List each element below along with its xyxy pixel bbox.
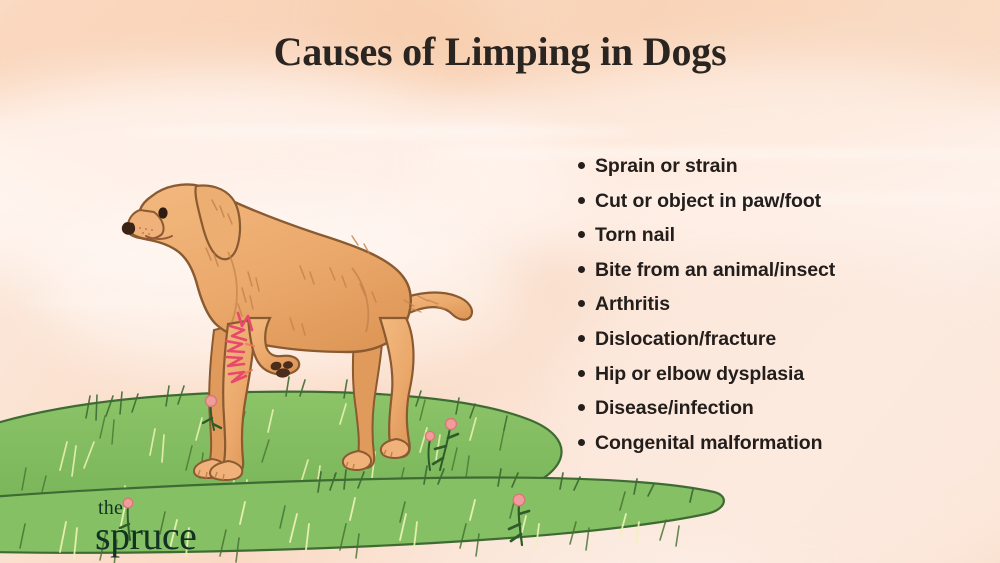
bullet-icon — [578, 335, 585, 342]
brand-logo-line2: spruce — [95, 516, 196, 556]
bullet-icon — [578, 439, 585, 446]
list-item-label: Torn nail — [595, 226, 675, 246]
list-item-label: Disease/infection — [595, 399, 754, 419]
page-title: Causes of Limping in Dogs — [0, 28, 1000, 75]
list-item-label: Cut or object in paw/foot — [595, 192, 821, 212]
list-item: Torn nail — [578, 226, 978, 261]
bullet-icon — [578, 231, 585, 238]
list-item-label: Bite from an animal/insect — [595, 261, 835, 281]
list-item: Congenital malformation — [578, 434, 978, 469]
causes-list: Sprain or strain Cut or object in paw/fo… — [578, 157, 978, 468]
list-item-label: Congenital malformation — [595, 434, 822, 454]
list-item: Disease/infection — [578, 399, 978, 434]
bullet-icon — [578, 300, 585, 307]
bullet-icon — [578, 370, 585, 377]
bullet-icon — [578, 266, 585, 273]
list-item: Dislocation/fracture — [578, 330, 978, 365]
list-item: Cut or object in paw/foot — [578, 192, 978, 227]
list-item-label: Sprain or strain — [595, 157, 738, 177]
bullet-icon — [578, 197, 585, 204]
list-item-label: Hip or elbow dysplasia — [595, 365, 804, 385]
list-item: Bite from an animal/insect — [578, 261, 978, 296]
list-item: Sprain or strain — [578, 157, 978, 192]
list-item-label: Dislocation/fracture — [595, 330, 776, 350]
bullet-icon — [578, 162, 585, 169]
list-item: Hip or elbow dysplasia — [578, 365, 978, 400]
list-item-label: Arthritis — [595, 295, 670, 315]
brand-logo: the spruce — [95, 498, 196, 556]
infographic-canvas: Causes of Limping in Dogs Sprain or stra… — [0, 0, 1000, 563]
list-item: Arthritis — [578, 295, 978, 330]
bullet-icon — [578, 404, 585, 411]
